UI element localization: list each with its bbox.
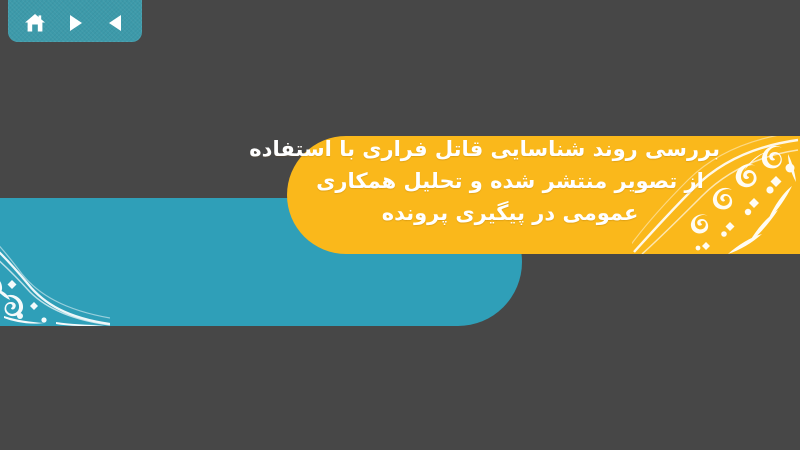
arabesque-corner-ornament-teal <box>0 198 110 326</box>
slide-navigation-bar <box>8 0 142 42</box>
home-icon <box>24 13 46 33</box>
slide-canvas: بررسی روند شناسایی قاتل فراری با استفاده… <box>0 0 800 450</box>
arabesque-corner-ornament-orange <box>632 136 800 254</box>
orange-title-band <box>287 136 800 254</box>
next-slide-button[interactable] <box>62 11 88 35</box>
triangle-left-icon <box>107 14 124 32</box>
triangle-right-icon <box>67 14 84 32</box>
home-button[interactable] <box>22 11 48 35</box>
previous-slide-button[interactable] <box>102 11 128 35</box>
